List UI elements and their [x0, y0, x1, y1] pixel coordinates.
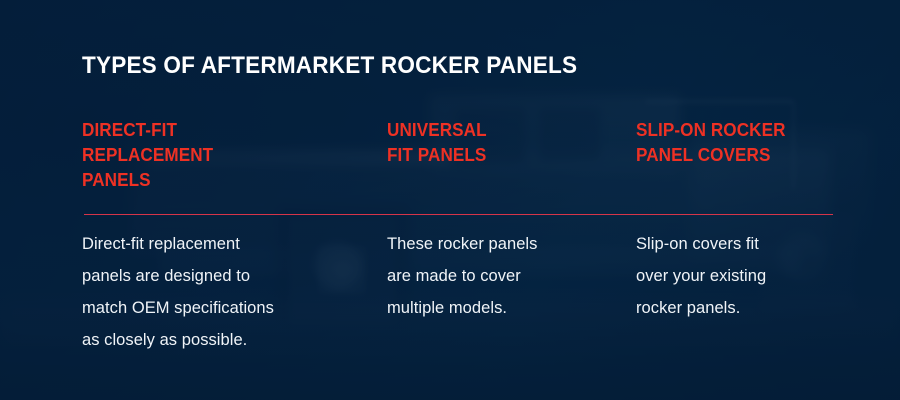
- column-title-slip-on: SLIP-ON ROCKER PANEL COVERS: [636, 118, 832, 168]
- column-body-slip-on-wrap: Slip-on covers fit over your existing ro…: [636, 228, 862, 356]
- column-title-direct-fit: DIRECT-FIT REPLACEMENT PANELS: [82, 118, 372, 193]
- column-body-direct-fit: Direct-fit replacement panels are design…: [82, 228, 387, 356]
- column-titles-row: DIRECT-FIT REPLACEMENT PANELS UNIVERSAL …: [82, 118, 842, 193]
- page-title: TYPES OF AFTERMARKET ROCKER PANELS: [82, 52, 577, 80]
- column-bodies-row: Direct-fit replacement panels are design…: [82, 228, 862, 356]
- red-divider-rule: [84, 214, 833, 215]
- infographic-content: TYPES OF AFTERMARKET ROCKER PANELS DIREC…: [0, 0, 900, 400]
- column-body-universal-fit-wrap: These rocker panels are made to cover mu…: [387, 228, 636, 356]
- column-body-direct-fit-wrap: Direct-fit replacement panels are design…: [82, 228, 387, 356]
- column-slip-on: SLIP-ON ROCKER PANEL COVERS: [636, 118, 842, 193]
- column-body-slip-on: Slip-on covers fit over your existing ro…: [636, 228, 862, 324]
- column-direct-fit: DIRECT-FIT REPLACEMENT PANELS: [82, 118, 387, 193]
- column-universal-fit: UNIVERSAL FIT PANELS: [387, 118, 636, 193]
- column-body-universal-fit: These rocker panels are made to cover mu…: [387, 228, 636, 324]
- infographic-card: TYPES OF AFTERMARKET ROCKER PANELS DIREC…: [0, 0, 900, 400]
- column-title-universal-fit: UNIVERSAL FIT PANELS: [387, 118, 624, 168]
